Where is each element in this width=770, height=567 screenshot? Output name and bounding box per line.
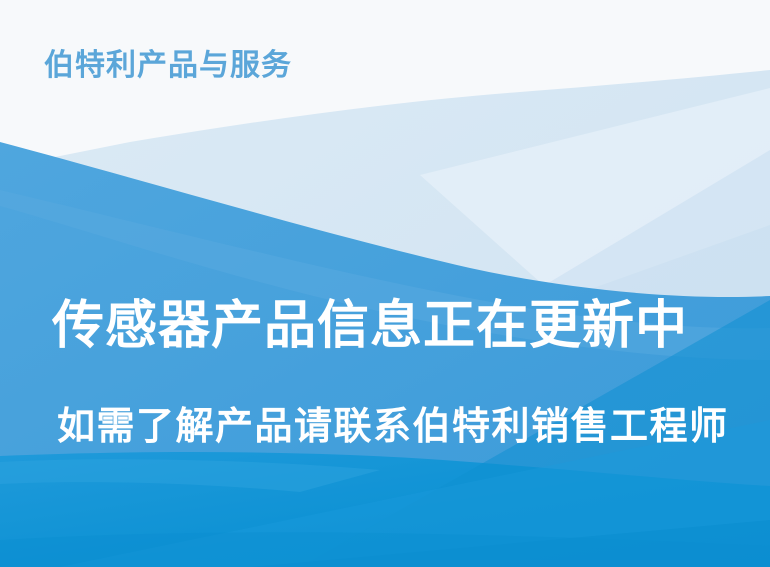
banner-text-layer: 伯特利产品与服务 传感器产品信息正在更新中 如需了解产品请联系伯特利销售工程师 xyxy=(0,0,770,567)
banner-header-title: 伯特利产品与服务 xyxy=(44,48,292,84)
banner-sub-title: 如需了解产品请联系伯特利销售工程师 xyxy=(57,406,729,448)
banner-main-title: 传感器产品信息正在更新中 xyxy=(52,298,688,354)
promo-banner: 伯特利产品与服务 传感器产品信息正在更新中 如需了解产品请联系伯特利销售工程师 xyxy=(0,0,770,567)
